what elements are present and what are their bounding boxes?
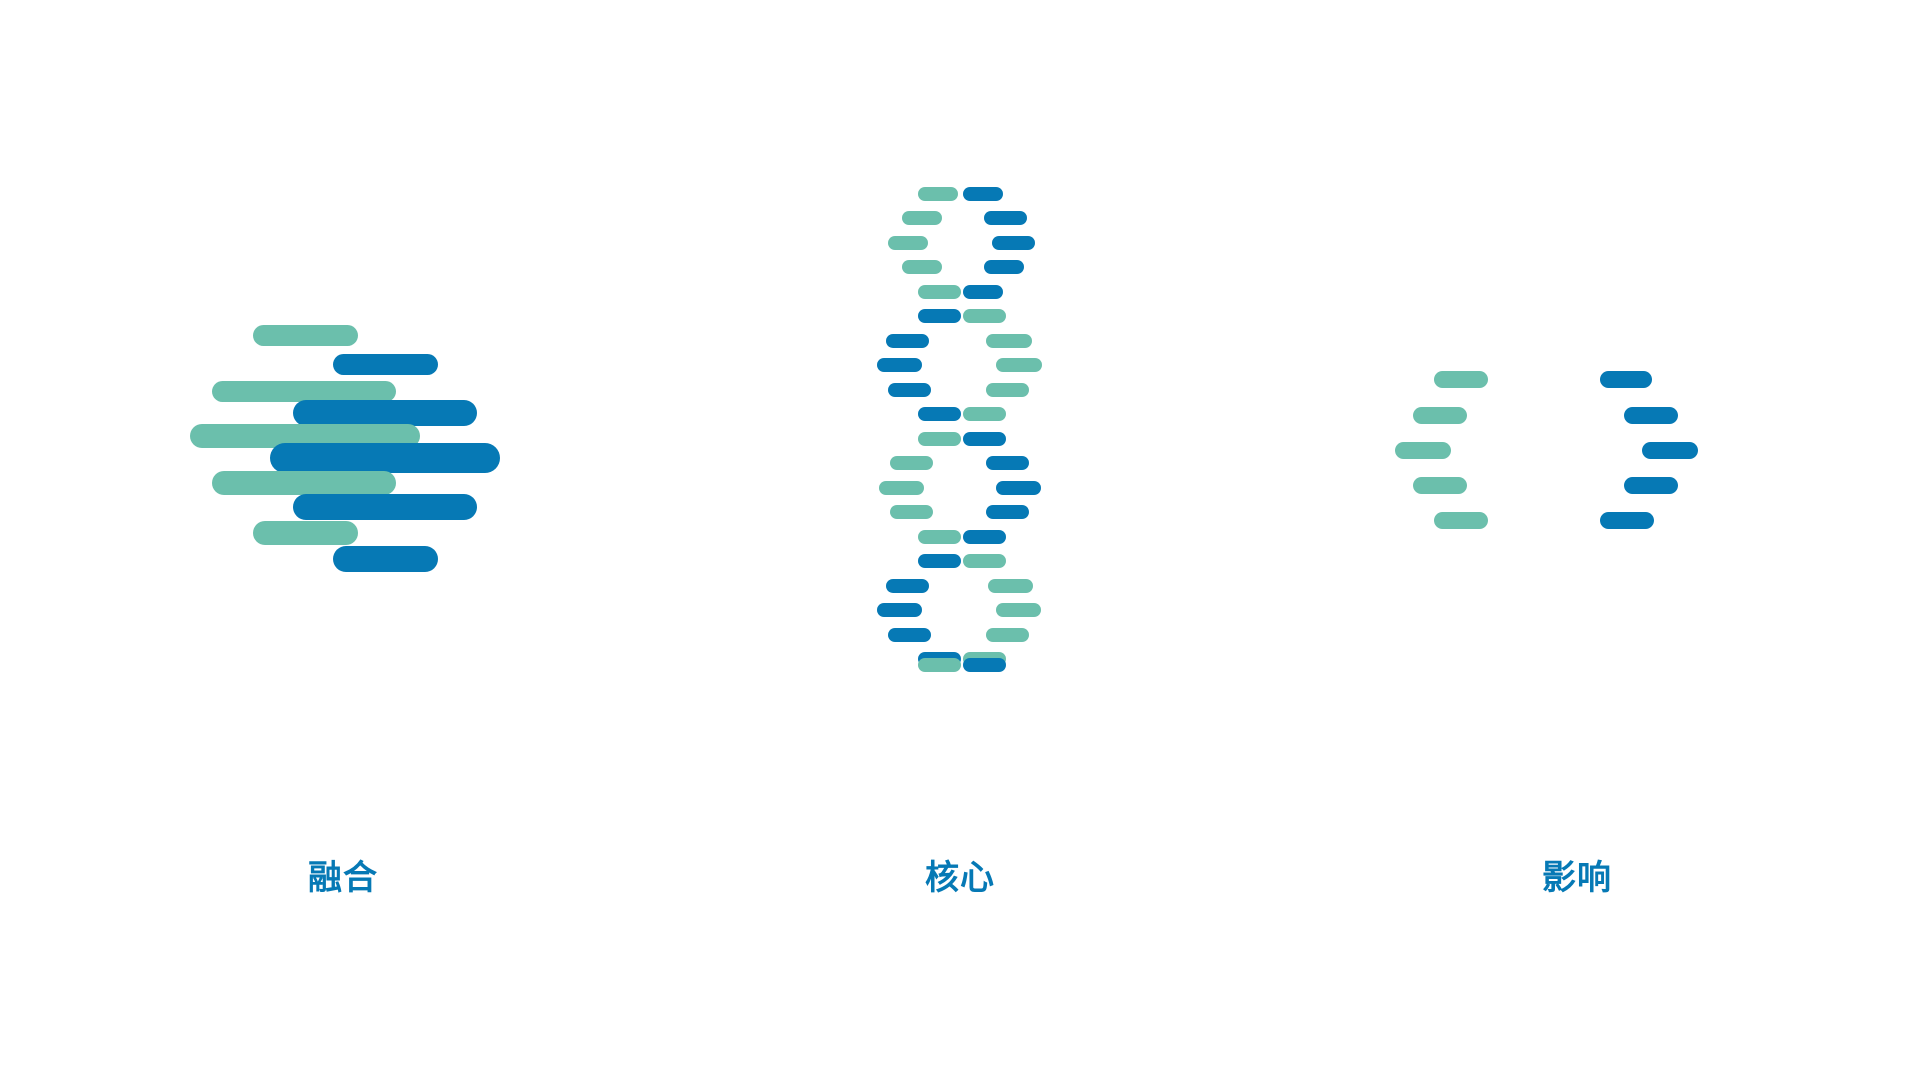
- icon-bar: [918, 530, 961, 544]
- icon-bar: [888, 383, 931, 397]
- icon-bar: [877, 603, 922, 617]
- icon-bar: [984, 260, 1024, 274]
- icon-bar: [918, 309, 961, 323]
- icon-bar: [886, 334, 929, 348]
- icon-bar: [1434, 512, 1488, 529]
- icon-bar: [918, 285, 961, 299]
- icon-bar: [890, 456, 933, 470]
- icon-bar: [293, 400, 477, 426]
- icon-bar: [918, 432, 961, 446]
- icon-bar: [886, 579, 929, 593]
- icon-bar: [992, 236, 1035, 250]
- icon-bar: [1395, 442, 1451, 459]
- icon-bar: [270, 443, 500, 473]
- icon-bar: [1434, 371, 1488, 388]
- icon-bar: [890, 505, 933, 519]
- icon-bar: [986, 383, 1029, 397]
- icon-bar: [996, 358, 1042, 372]
- icon-bar: [1600, 512, 1654, 529]
- icon-bar: [888, 236, 928, 250]
- icon-bar: [877, 358, 922, 372]
- icon-bar: [333, 354, 438, 375]
- icon-bar: [1413, 477, 1467, 494]
- icon-bar: [986, 334, 1032, 348]
- icon-bar: [986, 505, 1029, 519]
- icon-bar: [988, 579, 1033, 593]
- icon-bar: [963, 187, 1003, 201]
- icon-bar: [963, 658, 1006, 672]
- icon-bar: [918, 658, 961, 672]
- icon-bar: [1624, 407, 1678, 424]
- icon-bar: [986, 628, 1029, 642]
- panel-fusion-label: 融合: [0, 852, 686, 904]
- icon-bar: [963, 554, 1006, 568]
- icon-bar: [253, 521, 358, 545]
- parentheses-arcs-icon: [1234, 0, 1920, 760]
- icon-bar: [918, 554, 961, 568]
- icon-bar: [1413, 407, 1467, 424]
- panel-impact: 影响: [1234, 0, 1920, 1080]
- panel-core-label: 核心: [686, 852, 1234, 904]
- icon-bar: [918, 187, 958, 201]
- icon-bar: [1600, 371, 1652, 388]
- icon-bar: [984, 211, 1027, 225]
- icon-bar: [996, 603, 1041, 617]
- panel-impact-label: 影响: [1234, 852, 1920, 904]
- icon-board: 融合 核心 影响: [0, 0, 1920, 1080]
- icon-bar: [963, 285, 1003, 299]
- icon-bar: [963, 530, 1006, 544]
- icon-bar: [963, 407, 1006, 421]
- dna-helix-icon: [686, 0, 1234, 760]
- icon-bar: [333, 546, 438, 572]
- icon-bar: [212, 381, 396, 402]
- icon-bar: [212, 471, 396, 495]
- icon-bar: [293, 494, 477, 520]
- lens-stack-icon: [0, 0, 686, 760]
- icon-bar: [879, 481, 924, 495]
- icon-bar: [902, 260, 942, 274]
- icon-bar: [996, 481, 1041, 495]
- icon-bar: [963, 432, 1006, 446]
- icon-bar: [918, 407, 961, 421]
- icon-bar: [888, 628, 931, 642]
- icon-bar: [1624, 477, 1678, 494]
- icon-bar: [986, 456, 1029, 470]
- icon-bar: [963, 309, 1006, 323]
- icon-bar: [1642, 442, 1698, 459]
- icon-bar: [902, 211, 942, 225]
- icon-bar: [253, 325, 358, 346]
